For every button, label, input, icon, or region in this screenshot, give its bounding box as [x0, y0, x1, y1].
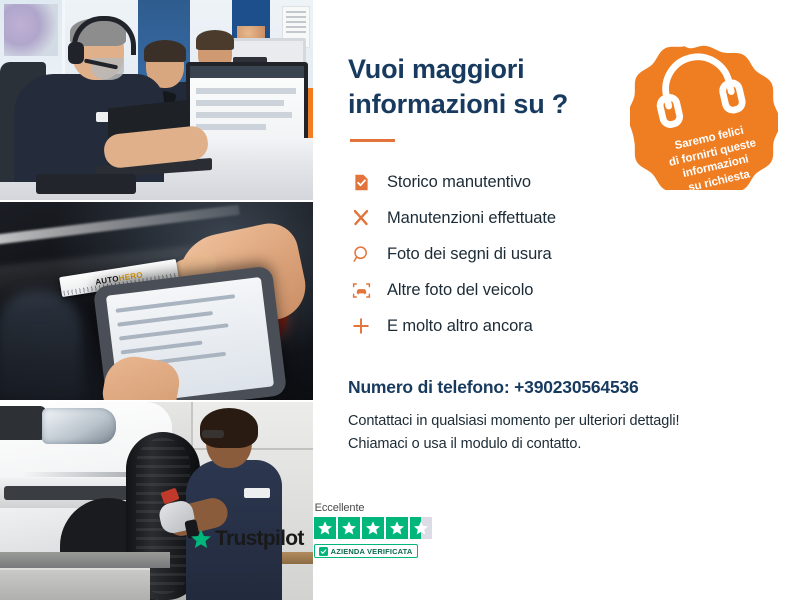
- workshop-tyre-check-photo: [0, 402, 313, 600]
- mechanic-hair: [200, 408, 258, 448]
- check-badge-icon: [319, 547, 328, 556]
- trustpilot-rating-label: Eccellente: [315, 502, 365, 514]
- list-item-label: Altre foto del veicolo: [387, 282, 533, 299]
- mechanic-glasses: [202, 430, 224, 438]
- mechanic-uniform-logo: [244, 488, 270, 498]
- list-item-label: Foto dei segni di usura: [387, 246, 552, 263]
- list-item-label: E molto altro ancora: [387, 318, 533, 335]
- trustpilot-rating: Trustpilot Eccellente: [190, 502, 432, 558]
- list-item: Altre foto del veicolo: [348, 272, 800, 308]
- window-view: [4, 4, 58, 56]
- trustpilot-logo: Trustpilot: [190, 527, 304, 558]
- tablet-row: [119, 323, 229, 340]
- screen-row: [196, 100, 284, 106]
- car-headlight: [42, 408, 116, 444]
- magnifier-icon: [348, 241, 374, 267]
- document-check-icon: [348, 169, 374, 195]
- contact-line-2: Chiamaci o usa il modulo di contatto.: [348, 436, 581, 452]
- call-center-agents-photo: [0, 0, 313, 200]
- agent-two-hair: [144, 40, 186, 62]
- list-item-label: Storico manutentivo: [387, 174, 531, 191]
- screen-row: [196, 88, 296, 94]
- car-grille: [0, 406, 46, 440]
- plus-icon: [348, 313, 374, 339]
- trustpilot-star-icon: [190, 528, 212, 550]
- tablet-row: [116, 294, 236, 313]
- verified-company-badge: AZIENDA VERIFICATA: [314, 544, 419, 558]
- car-inspection-ruler-photo: AUTOHERO: [0, 202, 313, 400]
- star-filled: [362, 517, 384, 539]
- headline-underline: [350, 139, 395, 142]
- blurred-person: [0, 290, 82, 400]
- tool-cabinet-left: [0, 568, 150, 600]
- headline-line-2: informazioni su ?: [348, 89, 568, 119]
- starburst-shape: [630, 42, 778, 190]
- car-frame-icon: [348, 277, 374, 303]
- headline-line-1: Vuoi maggiori: [348, 54, 524, 84]
- contact-line-1: Contattaci in qualsiasi momento per ulte…: [348, 413, 679, 429]
- list-item-label: Manutenzioni effettuate: [387, 210, 556, 227]
- list-item: Manutenzioni effettuate: [348, 200, 800, 236]
- agent-one-headset-cup: [68, 42, 84, 64]
- trustpilot-wordmark: Trustpilot: [215, 527, 304, 551]
- star-filled: [338, 517, 360, 539]
- desk-tablet: [36, 174, 136, 194]
- star-filled: [386, 517, 408, 539]
- screen-row: [196, 112, 292, 118]
- list-item: E molto altro ancora: [348, 308, 800, 344]
- page-title: Vuoi maggiori informazioni su ?: [348, 52, 628, 122]
- trustpilot-stars: [314, 517, 432, 539]
- star-filled: [314, 517, 336, 539]
- agent-three-hair: [196, 30, 234, 50]
- wall-poster: [232, 0, 270, 42]
- trustpilot-score-block: Eccellente: [314, 502, 432, 558]
- tablet-row: [117, 311, 213, 327]
- screen-row: [196, 124, 266, 130]
- request-info-badge: Saremo felici di fornirti queste informa…: [630, 42, 778, 190]
- list-item: Foto dei segni di usura: [348, 236, 800, 272]
- phone-number: Numero di telefono: +390230564536: [348, 377, 800, 398]
- verified-company-text: AZIENDA VERIFICATA: [331, 547, 413, 556]
- vehicle-lift: [0, 552, 170, 568]
- feature-list: Storico manutentivo Manutenzioni effettu…: [348, 164, 800, 344]
- tablet-row: [121, 341, 203, 355]
- car-chrome-trim: [20, 472, 130, 477]
- autohero-info-poster: AUTOHERO: [0, 0, 800, 600]
- star-half: [410, 517, 432, 539]
- crossed-tools-icon: [348, 205, 374, 231]
- contact-description: Contattaci in qualsiasi momento per ulte…: [348, 410, 800, 455]
